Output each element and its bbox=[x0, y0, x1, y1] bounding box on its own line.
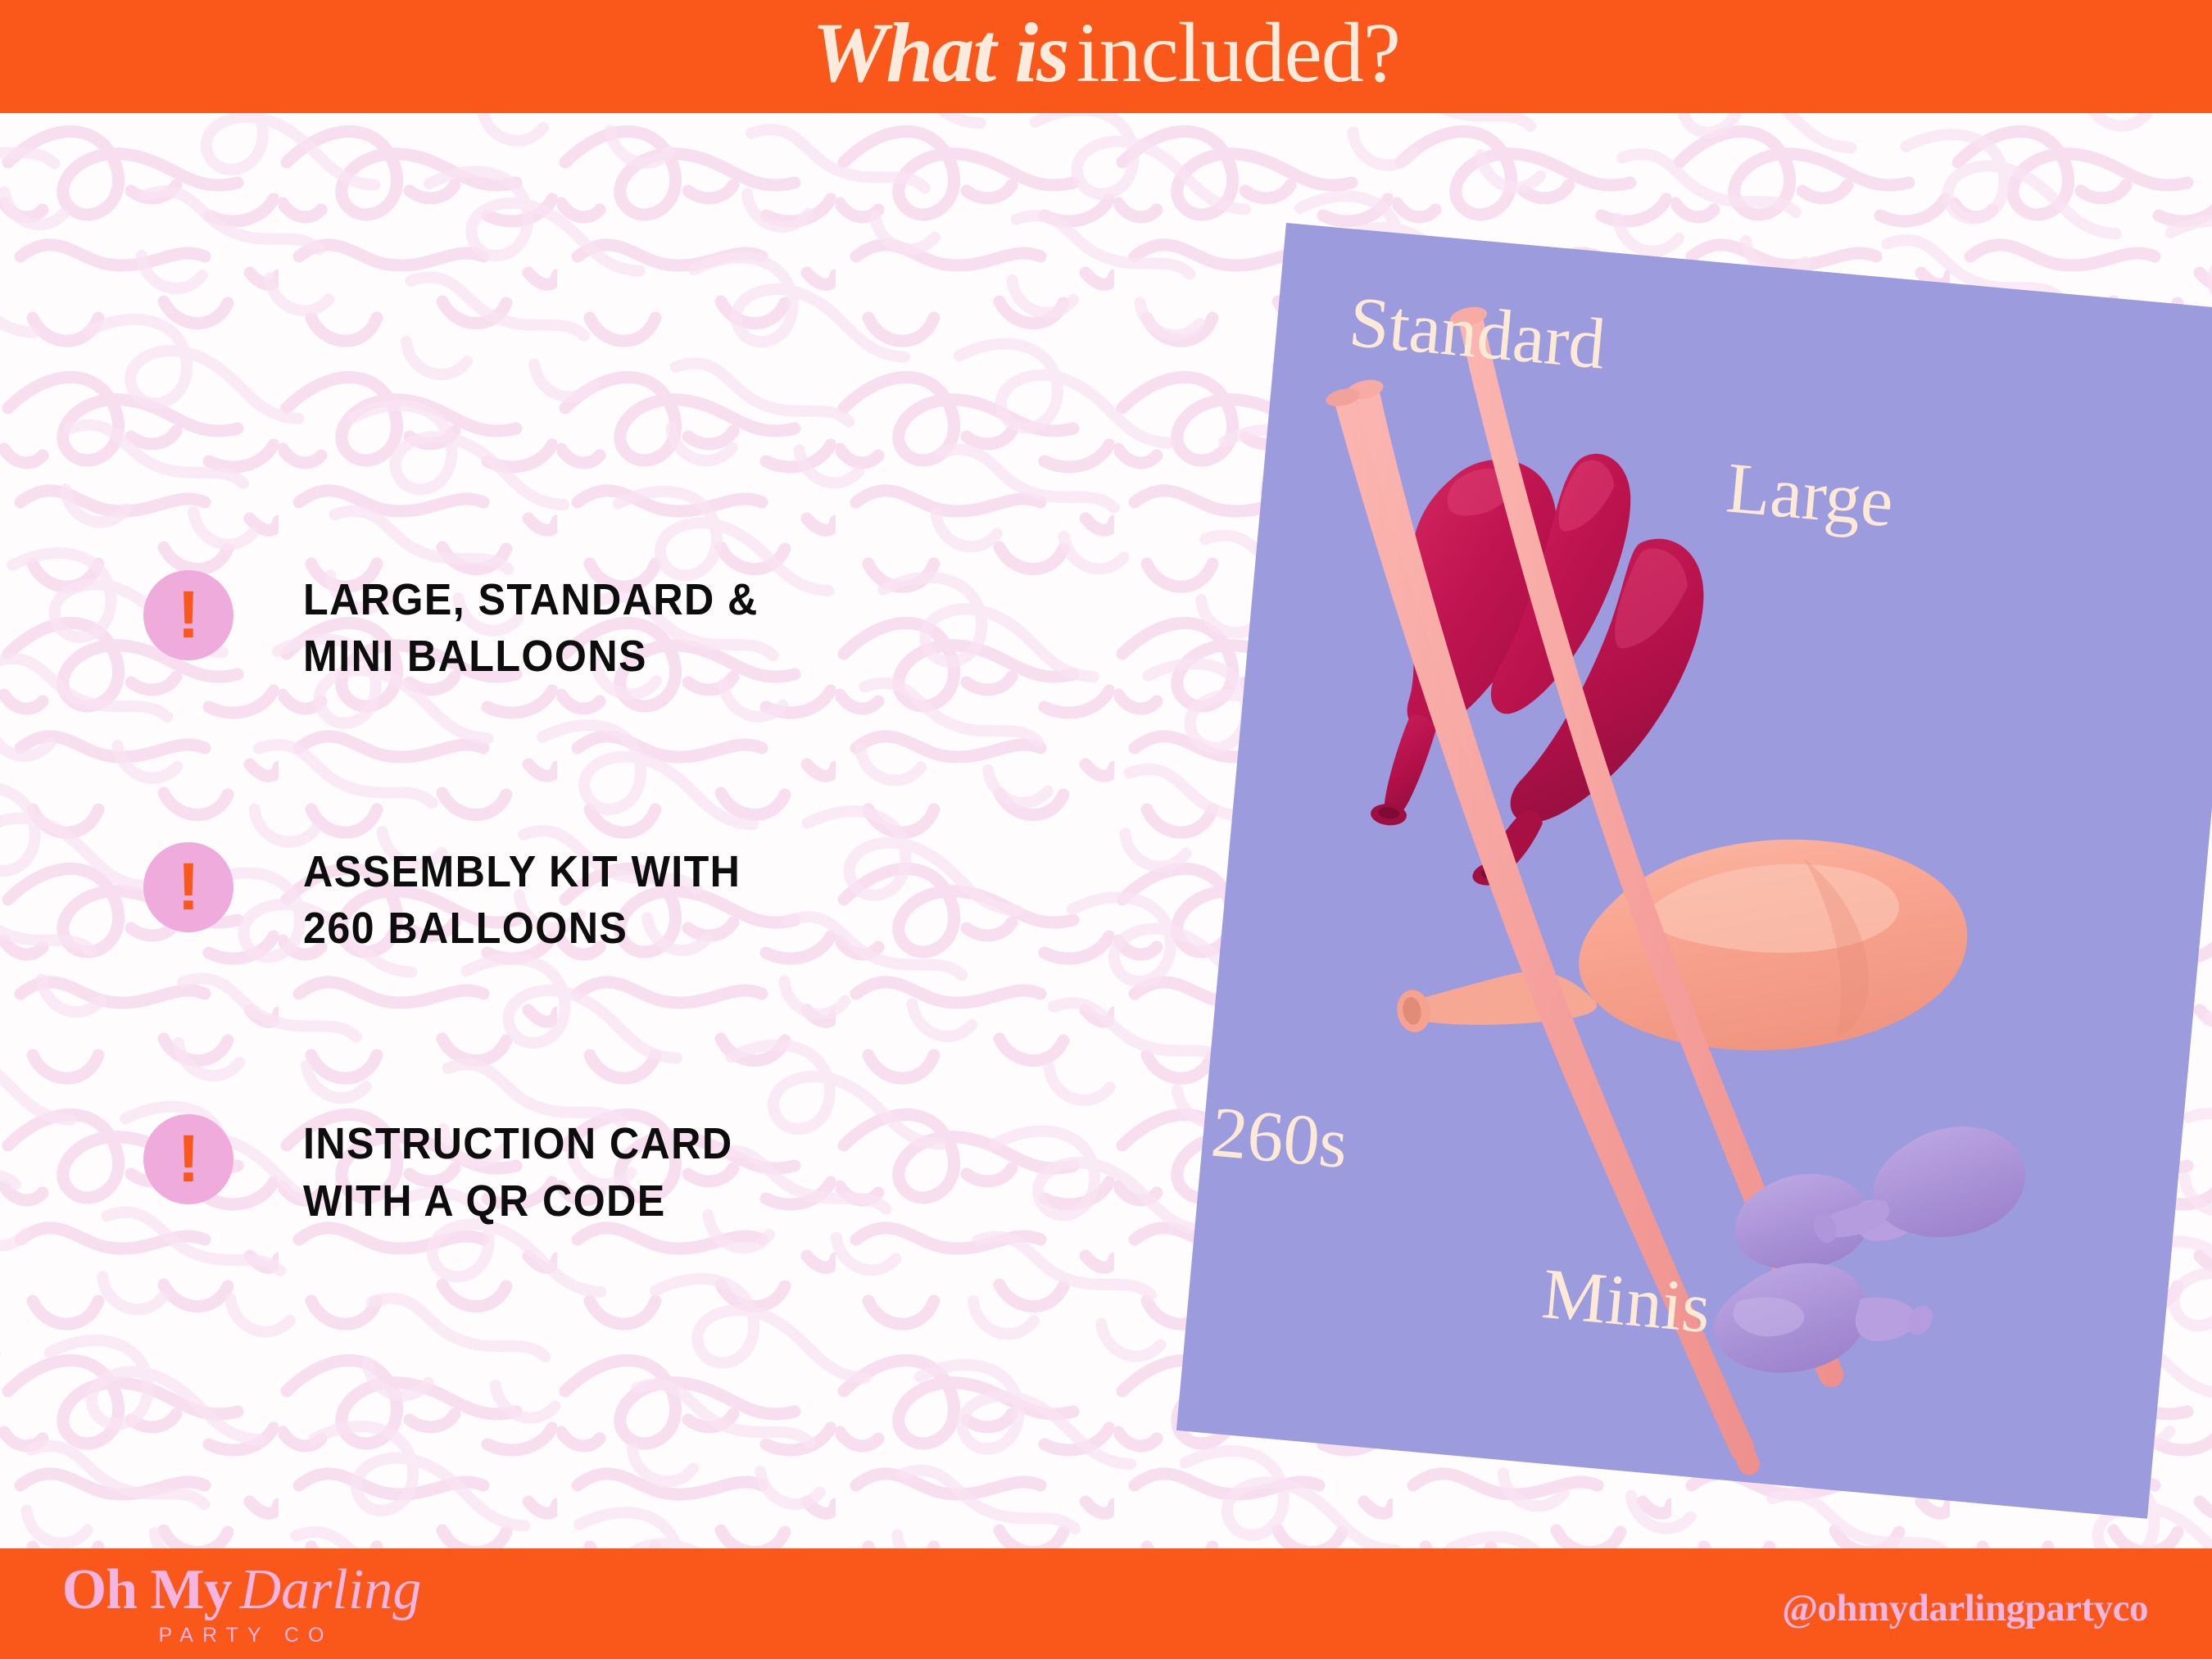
feature-item-instruction-card: ! INSTRUCTION CARD WITH A QR CODE bbox=[143, 1109, 1045, 1229]
label-large: Large bbox=[1724, 452, 1897, 539]
mini-balloons-photo bbox=[1711, 1105, 2029, 1394]
feature-item-assembly-kit: ! ASSEMBLY KIT WITH 260 BALLOONS bbox=[143, 837, 1045, 957]
brand-tagline: PARTY CO bbox=[49, 1624, 434, 1648]
page-title-emphasis: What is bbox=[812, 6, 1077, 100]
feature-list: ! LARGE, STANDARD & MINI BALLOONS ! ASSE… bbox=[143, 565, 1045, 1230]
feature-label-balloons: LARGE, STANDARD & MINI BALLOONS bbox=[303, 565, 759, 685]
page-title: What isincluded? bbox=[812, 11, 1400, 96]
label-minis: Minis bbox=[1539, 1258, 1714, 1345]
header-bar: What isincluded? bbox=[0, 0, 2212, 113]
feature-label-assembly-kit: ASSEMBLY KIT WITH 260 BALLOONS bbox=[303, 837, 741, 957]
feature-label-instruction-card: INSTRUCTION CARD WITH A QR CODE bbox=[303, 1109, 733, 1229]
exclamation-glyph: ! bbox=[177, 854, 199, 921]
product-photo-card: Standard Large 260s Minis bbox=[1176, 223, 2212, 1519]
page-title-rest: included? bbox=[1077, 6, 1400, 100]
exclamation-badge-icon: ! bbox=[143, 842, 233, 932]
brand-name: Oh MyDarling bbox=[49, 1560, 434, 1620]
exclamation-glyph: ! bbox=[177, 582, 199, 649]
exclamation-badge-icon: ! bbox=[143, 570, 233, 660]
exclamation-badge-icon: ! bbox=[143, 1114, 233, 1204]
brand-logo: Oh MyDarling PARTY CO bbox=[49, 1560, 434, 1648]
feature-item-balloons: ! LARGE, STANDARD & MINI BALLOONS bbox=[143, 565, 1045, 685]
footer-bar: Oh MyDarling PARTY CO @ohmydarlingpartyc… bbox=[0, 1548, 2212, 1659]
brand-name-secondary: Darling bbox=[232, 1558, 422, 1621]
brand-name-primary: Oh My bbox=[62, 1558, 232, 1621]
label-260s: 260s bbox=[1208, 1097, 1351, 1181]
exclamation-glyph: ! bbox=[177, 1126, 199, 1193]
social-handle[interactable]: @ohmydarlingpartyco bbox=[1782, 1586, 2148, 1630]
